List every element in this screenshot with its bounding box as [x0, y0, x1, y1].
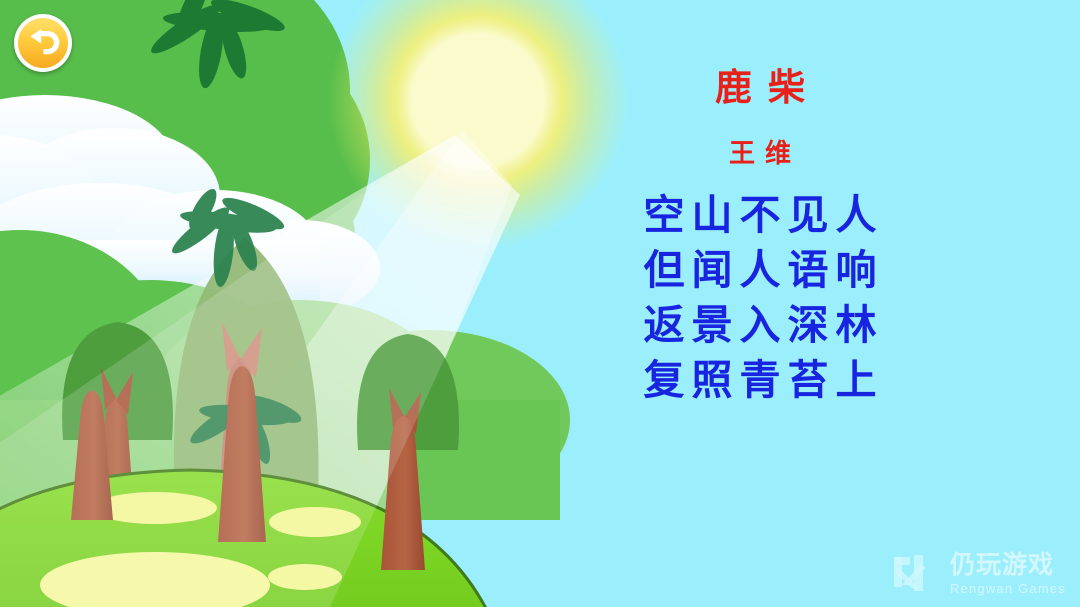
scene-illustration	[0, 0, 1080, 607]
back-button[interactable]	[14, 14, 72, 72]
back-arrow-icon	[25, 26, 61, 60]
app-screen: 鹿柴 王维 空山不见人 但闻人语响 返景入深林 复照青苔上 仍玩游戏 Rengw…	[0, 0, 1080, 607]
